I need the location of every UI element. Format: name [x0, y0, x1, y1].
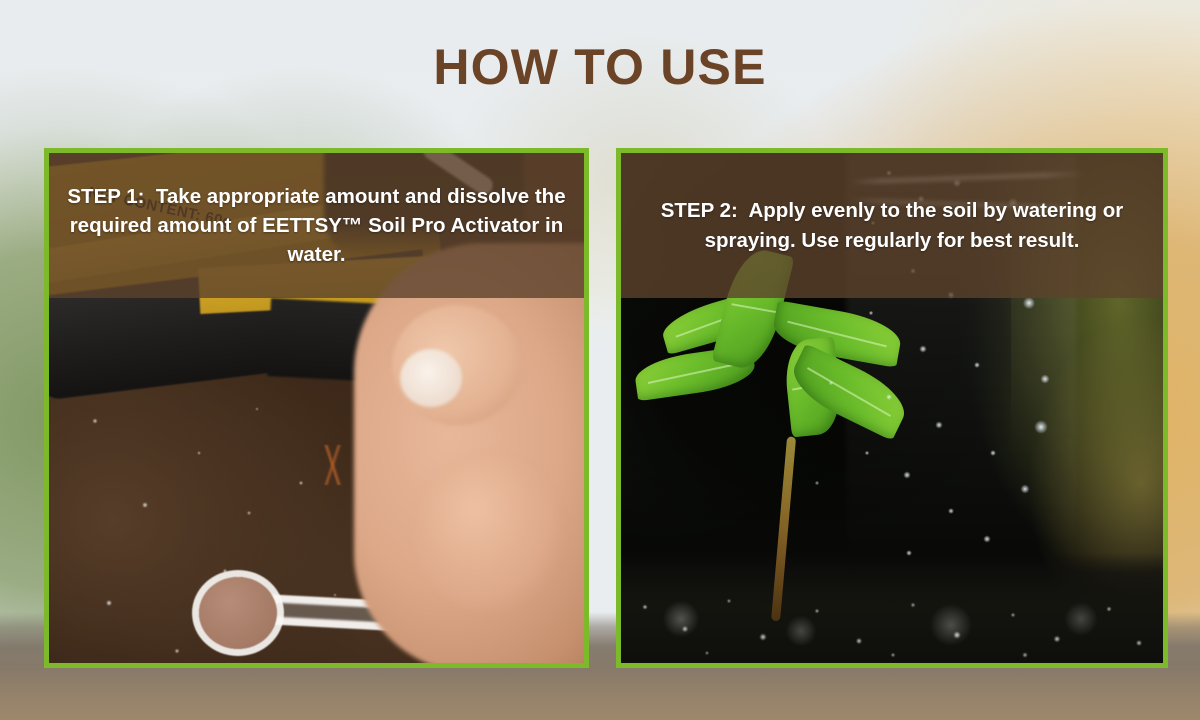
page-title: HOW TO USE: [0, 38, 1200, 96]
step-1-caption: STEP 1: Take appropriate amount and diss…: [49, 153, 584, 298]
step-1-label: STEP 1:: [67, 185, 144, 208]
step-2-card: STEP 2: Apply evenly to the soil by wate…: [616, 148, 1168, 668]
step-2-caption-text: STEP 2: Apply evenly to the soil by wate…: [637, 196, 1147, 254]
fingernail: [400, 349, 462, 407]
finger-lower: [414, 453, 564, 613]
step-2-body: Apply evenly to the soil by watering or …: [705, 199, 1124, 251]
step-2-caption: STEP 2: Apply evenly to the soil by wate…: [621, 153, 1163, 298]
step-1-card: NET CONTENT: 60g STEP 1: Take appropriat…: [44, 148, 589, 668]
step-1-caption-text: STEP 1: Take appropriate amount and diss…: [65, 182, 568, 269]
step-2-label: STEP 2:: [661, 199, 738, 222]
measuring-spoon-bowl-with-powder: [199, 577, 277, 649]
page-root: HOW TO USE NET CONTENT: 60g ST: [0, 0, 1200, 720]
